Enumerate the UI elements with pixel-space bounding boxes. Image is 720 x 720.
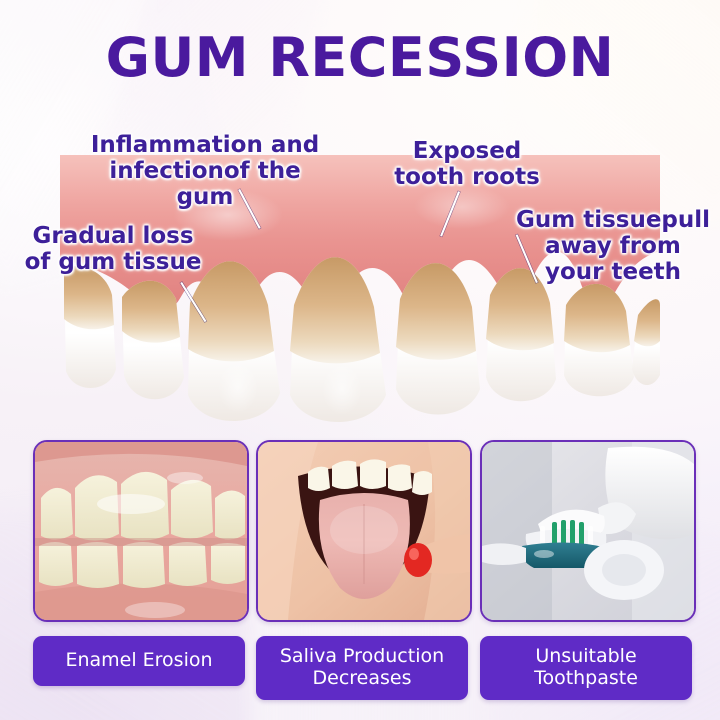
card-caption: Unsuitable Toothpaste (480, 636, 692, 700)
tooth (632, 299, 660, 385)
label-pull-away: Gum tissuepull away from your teeth (515, 208, 711, 285)
tooth (188, 261, 280, 421)
cause-card[interactable]: Enamel Erosion (33, 440, 245, 686)
tooth (290, 257, 386, 422)
mouth-tongue-photo (256, 440, 472, 622)
tooth (64, 266, 116, 388)
cause-card[interactable]: Saliva Production Decreases (256, 440, 468, 700)
cause-card[interactable]: Unsuitable Toothpaste (480, 440, 692, 700)
teeth-closeup-photo (33, 440, 249, 622)
card-caption: Saliva Production Decreases (256, 636, 468, 700)
card-caption: Enamel Erosion (33, 636, 245, 686)
tooth (564, 284, 634, 396)
tooth (486, 268, 556, 401)
cause-card-row: Enamel Erosion (0, 440, 720, 710)
tooth (396, 263, 480, 414)
label-gradual-loss: Gradual loss of gum tissue (18, 224, 208, 276)
page-title: GUM RECESSION (0, 26, 720, 89)
infographic-canvas: GUM RECESSION (0, 0, 720, 720)
gum-gloss (414, 185, 510, 229)
tooth (122, 281, 184, 400)
toothbrush-paste-photo (480, 440, 696, 622)
label-exposed-roots: Exposed tooth roots (392, 139, 542, 191)
label-inflammation: Inflammation and infectionof the gum (80, 133, 330, 210)
